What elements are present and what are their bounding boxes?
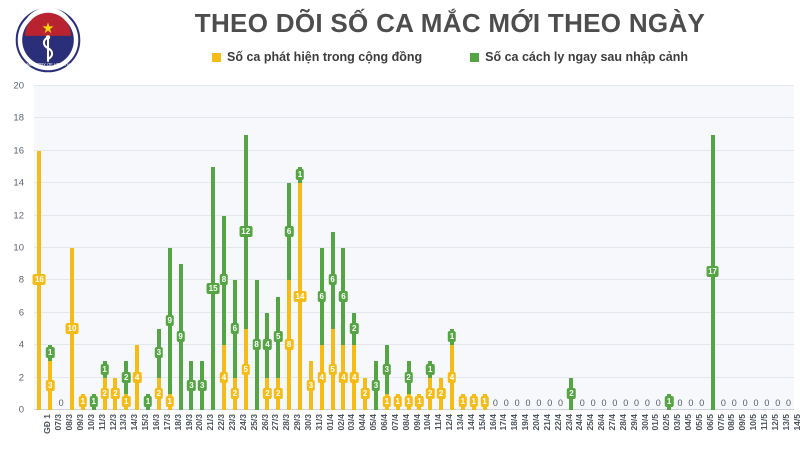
bar-column: 21 [425, 86, 436, 410]
x-axis-tick-label: 04/5 [683, 414, 693, 431]
x-axis-tick-label: 10/4 [422, 414, 432, 431]
bar-value-label-quarantine: 1 [100, 364, 108, 375]
bar-column: 512 [240, 86, 251, 410]
x-axis-tick-label: 14/3 [129, 414, 139, 431]
x-axis-tick-label: 23/4 [564, 414, 574, 431]
bar-column: 56 [327, 86, 338, 410]
bar-column: 3 [371, 86, 382, 410]
bar-column: 2 [436, 86, 447, 410]
x-axis-tick-label: 22/3 [216, 414, 226, 431]
bar-column: 0 [609, 86, 620, 410]
bar-value-label-quarantine: 9 [165, 315, 173, 326]
chart-page: MINISTRY OF HEALTH THEO DÕI SỐ CA MẮC MỚ… [0, 0, 800, 450]
bar-value-label-quarantine: 2 [567, 388, 575, 399]
bar-column: 2 [110, 86, 121, 410]
x-axis-tick-label: 25/4 [585, 414, 595, 431]
x-axis-tick-label: 12/3 [108, 414, 118, 431]
x-axis-tick-label: 02/4 [336, 414, 346, 431]
legend-swatch-community [212, 53, 221, 62]
bar-value-label-community: 1 [415, 396, 423, 407]
bar-column: 3 [305, 86, 316, 410]
bar-value-label-community: 4 [448, 372, 456, 383]
bar-column: 0 [718, 86, 729, 410]
bar-value-label-quarantine: 1 [144, 396, 152, 407]
x-axis: GĐ 107/308/309/310/311/312/313/314/315/3… [34, 414, 794, 450]
x-axis-tick-label: 09/3 [75, 414, 85, 431]
x-axis-tick-label: 01/4 [325, 414, 335, 431]
bar-column: 1 [392, 86, 403, 410]
bar-column: 12 [403, 86, 414, 410]
x-axis-tick-label: 07/4 [390, 414, 400, 431]
x-axis-tick-label: 05/5 [694, 414, 704, 431]
bar-value-label-quarantine: 3 [198, 380, 206, 391]
bar-value-label-zero: 0 [719, 398, 728, 409]
bar-value-label-quarantine: 4 [263, 339, 271, 350]
x-axis-tick-label: 29/4 [629, 414, 639, 431]
bar-column: 17 [707, 86, 718, 410]
bar-value-label-community: 5 [328, 364, 336, 375]
x-axis-tick-label: 17/3 [162, 414, 172, 431]
x-axis-tick-label: 06/5 [705, 414, 715, 431]
bar-value-label-community: 2 [263, 388, 271, 399]
svg-text:MINISTRY OF HEALTH: MINISTRY OF HEALTH [26, 62, 69, 67]
bar-column: 46 [316, 86, 327, 410]
x-axis-tick-label: 24/4 [574, 414, 584, 431]
bar-value-label-zero: 0 [730, 398, 739, 409]
bar-column: 0 [685, 86, 696, 410]
bar-column: 3 [197, 86, 208, 410]
bar-column: 1 [88, 86, 99, 410]
bar-value-label-community: 2 [155, 388, 163, 399]
bar-value-label-quarantine: 9 [176, 331, 184, 342]
bar-value-label-zero: 0 [773, 398, 782, 409]
bar-column: 0 [512, 86, 523, 410]
x-axis-tick-label: 21/4 [542, 414, 552, 431]
x-axis-tick-label: 15/3 [140, 414, 150, 431]
bar-value-label-quarantine: 2 [404, 372, 412, 383]
bar-value-label-zero: 0 [523, 398, 532, 409]
bar-value-label-quarantine: 3 [155, 347, 163, 358]
x-axis-tick-label: 12/4 [444, 414, 454, 431]
bar-value-label-community: 2 [100, 388, 108, 399]
x-axis-tick-label: 14/4 [466, 414, 476, 431]
bar-value-label-community: 4 [317, 372, 325, 383]
bar-value-label-zero: 0 [534, 398, 543, 409]
bar-column: 2 [566, 86, 577, 410]
bar-value-label-community: 2 [361, 388, 369, 399]
y-axis-tick-label: 14 [13, 178, 24, 189]
x-axis-tick-label: 22/4 [553, 414, 563, 431]
x-axis-tick-label: 06/4 [379, 414, 389, 431]
y-axis-tick-label: 4 [19, 340, 24, 351]
bar-value-label-community: 1 [480, 396, 488, 407]
bar-column: 0 [490, 86, 501, 410]
bar-column: 13 [381, 86, 392, 410]
bar-column: 41 [447, 86, 458, 410]
bar-column: 0 [555, 86, 566, 410]
bar-column: 16 [34, 86, 45, 410]
bar-value-label-community: 4 [220, 372, 228, 383]
bar-column: 15 [208, 86, 219, 410]
bar-column: 0 [653, 86, 664, 410]
x-axis-tick-label: 03/5 [672, 414, 682, 431]
bar-column: 0 [523, 86, 534, 410]
bar-column: 21 [99, 86, 110, 410]
bar-value-label-quarantine: 5 [274, 331, 282, 342]
x-axis-tick-label: 01/5 [650, 414, 660, 431]
bar-value-label-quarantine: 3 [187, 380, 195, 391]
y-axis-tick-label: 10 [13, 243, 24, 254]
bar-column: 0 [783, 86, 794, 410]
bar-value-label-zero: 0 [632, 398, 641, 409]
bar-column: 0 [642, 86, 653, 410]
bar-value-label-zero: 0 [762, 398, 771, 409]
bar-value-label-zero: 0 [578, 398, 587, 409]
x-axis-tick-label: 07/3 [53, 414, 63, 431]
bar-value-label-quarantine: 6 [285, 226, 293, 237]
x-axis-tick-label: 23/3 [227, 414, 237, 431]
y-axis-tick-label: 20 [13, 81, 24, 92]
bar-column: 86 [284, 86, 295, 410]
chart-area: 02468101214161820 1631010112121241231993… [0, 86, 800, 450]
bar-column: 0 [772, 86, 783, 410]
bar-value-label-community: 1 [469, 396, 477, 407]
bar-value-label-quarantine: 6 [339, 291, 347, 302]
bar-column: 46 [338, 86, 349, 410]
x-axis-tick-label: 25/3 [249, 414, 259, 431]
bar-column: 0 [631, 86, 642, 410]
x-axis-tick-label: 21/3 [205, 414, 215, 431]
bar-column: 0 [751, 86, 762, 410]
x-axis-tick-label: 26/4 [596, 414, 606, 431]
bar-column: 0 [729, 86, 740, 410]
y-axis-tick-label: 18 [13, 113, 24, 124]
bar-value-label-zero: 0 [621, 398, 630, 409]
y-axis-tick-label: 12 [13, 210, 24, 221]
bar-value-label-zero: 0 [686, 398, 695, 409]
bar-value-label-quarantine: 1 [426, 364, 434, 375]
x-axis-tick-label: 27/4 [607, 414, 617, 431]
bar-column: 0 [696, 86, 707, 410]
bar-column: 2 [360, 86, 371, 410]
bar-value-label-zero: 0 [654, 398, 663, 409]
x-axis-tick-label: 13/5 [781, 414, 791, 431]
x-axis-tick-label: 31/3 [314, 414, 324, 431]
bar-value-label-community: 2 [426, 388, 434, 399]
x-axis-tick-label: 20/4 [531, 414, 541, 431]
x-axis-tick-label: 15/4 [477, 414, 487, 431]
bar-column: 24 [262, 86, 273, 410]
y-axis: 02468101214161820 [0, 86, 30, 410]
x-axis-tick-label: 28/3 [281, 414, 291, 431]
y-axis-tick-label: 16 [13, 145, 24, 156]
bar-column: 8 [251, 86, 262, 410]
bar-value-label-community: 1 [393, 396, 401, 407]
y-axis-tick-label: 6 [19, 307, 24, 318]
x-axis-tick-label: 13/4 [455, 414, 465, 431]
bar-value-label-quarantine: 1 [46, 347, 54, 358]
bar-value-label-zero: 0 [57, 398, 66, 409]
x-axis-tick-label: 17/4 [498, 414, 508, 431]
bar-column: 1 [77, 86, 88, 410]
bar-column: 25 [273, 86, 284, 410]
bar-value-label-zero: 0 [741, 398, 750, 409]
bar-value-label-community: 1 [122, 396, 130, 407]
x-axis-tick-label: 08/4 [401, 414, 411, 431]
legend-item-community: Số ca phát hiện trong cộng đồng [212, 50, 422, 64]
legend-item-quarantine: Số ca cách ly ngay sau nhập cảnh [470, 50, 688, 64]
bar-column: 0 [56, 86, 67, 410]
bar-column: 9 [175, 86, 186, 410]
bar-value-label-community: 1 [79, 396, 87, 407]
bar-column: 0 [740, 86, 751, 410]
bar-value-label-community: 4 [350, 372, 358, 383]
bar-column: 12 [121, 86, 132, 410]
bar-value-label-quarantine: 6 [231, 323, 239, 334]
x-axis-tick-label: 14/5 [792, 414, 800, 431]
bar-value-label-community: 1 [165, 396, 173, 407]
x-axis-tick-label: 27/3 [270, 414, 280, 431]
bar-value-label-community: 3 [307, 380, 315, 391]
bar-column: 1 [664, 86, 675, 410]
bar-value-label-quarantine: 6 [328, 274, 336, 285]
bar-column: 0 [675, 86, 686, 410]
bar-value-label-quarantine: 2 [122, 372, 130, 383]
bar-value-label-zero: 0 [610, 398, 619, 409]
x-axis-tick-label: 12/5 [770, 414, 780, 431]
bar-value-label-zero: 0 [491, 398, 500, 409]
x-axis-tick-label: 19/4 [520, 414, 530, 431]
bar-value-label-community: 8 [285, 339, 293, 350]
x-axis-tick-label: 18/4 [509, 414, 519, 431]
bar-value-label-zero: 0 [784, 398, 793, 409]
bar-column: 10 [67, 86, 78, 410]
chart-legend: Số ca phát hiện trong cộng đồng Số ca cá… [110, 50, 790, 64]
bar-column: 0 [501, 86, 512, 410]
bar-value-label-zero: 0 [502, 398, 511, 409]
page-title: THEO DÕI SỐ CA MẮC MỚI THEO NGÀY [110, 6, 790, 40]
bo-y-te-logo: MINISTRY OF HEALTH [14, 6, 82, 74]
bar-value-label-community: 1 [459, 396, 467, 407]
bar-value-label-community: 1 [404, 396, 412, 407]
x-axis-tick-label: 20/3 [194, 414, 204, 431]
x-axis-tick-label: 30/3 [303, 414, 313, 431]
bar-column: 26 [229, 86, 240, 410]
bar-value-label-quarantine: 1 [89, 396, 97, 407]
bar-value-label-community: 2 [231, 388, 239, 399]
bar-column: 1 [457, 86, 468, 410]
y-axis-tick-label: 8 [19, 275, 24, 286]
bar-value-label-zero: 0 [545, 398, 554, 409]
x-axis-tick-label: 29/3 [292, 414, 302, 431]
x-axis-tick-label: 11/4 [433, 414, 443, 430]
x-axis-tick-label: GĐ 1 [42, 414, 52, 434]
bar-value-label-community: 4 [339, 372, 347, 383]
x-axis-tick-label: 08/5 [726, 414, 736, 431]
bar-value-label-zero: 0 [556, 398, 565, 409]
bar-value-label-community: 5 [241, 364, 249, 375]
bar-column: 1 [479, 86, 490, 410]
bar-value-label-quarantine: 1 [296, 169, 304, 180]
bar-value-label-zero: 0 [675, 398, 684, 409]
bar-value-label-zero: 0 [589, 398, 598, 409]
bar-value-label-quarantine: 1 [448, 331, 456, 342]
bar-value-label-zero: 0 [513, 398, 522, 409]
bar-column: 23 [153, 86, 164, 410]
x-axis-tick-label: 28/4 [618, 414, 628, 431]
bar-column: 141 [295, 86, 306, 410]
bar-value-label-community: 2 [437, 388, 445, 399]
x-axis-tick-label: 10/5 [748, 414, 758, 431]
bar-value-label-quarantine: 3 [372, 380, 380, 391]
x-axis-tick-label: 19/3 [184, 414, 194, 431]
y-axis-tick-label: 0 [19, 405, 24, 416]
x-axis-tick-label: 13/3 [118, 414, 128, 431]
x-axis-tick-label: 16/4 [488, 414, 498, 431]
bar-column: 4 [132, 86, 143, 410]
bar-column: 0 [533, 86, 544, 410]
bar-value-label-quarantine: 2 [350, 323, 358, 334]
x-axis-tick-label: 09/4 [412, 414, 422, 431]
x-axis-tick-label: 30/4 [640, 414, 650, 431]
bar-value-label-zero: 0 [697, 398, 706, 409]
bar-column: 0 [761, 86, 772, 410]
bar-value-label-community: 1 [383, 396, 391, 407]
bar-column: 42 [349, 86, 360, 410]
x-axis-tick-label: 24/3 [238, 414, 248, 431]
bar-value-label-quarantine: 8 [220, 274, 228, 285]
x-axis-tick-label: 26/3 [260, 414, 270, 431]
x-axis-tick-label: 10/3 [86, 414, 96, 431]
bar-value-label-zero: 0 [643, 398, 652, 409]
legend-label-quarantine: Số ca cách ly ngay sau nhập cảnh [485, 50, 688, 64]
bar-column: 48 [219, 86, 230, 410]
bar-value-label-zero: 0 [751, 398, 760, 409]
y-axis-tick-label: 2 [19, 372, 24, 383]
bar-series-container: 1631010112121241231993315482651282425861… [34, 86, 794, 410]
legend-swatch-quarantine [470, 53, 479, 62]
bar-column: 3 [186, 86, 197, 410]
x-axis-tick-label: 05/4 [368, 414, 378, 431]
bar-column: 1 [468, 86, 479, 410]
bar-value-label-community: 3 [46, 380, 54, 391]
x-axis-tick-label: 11/3 [97, 414, 107, 430]
x-axis-tick-label: 03/4 [346, 414, 356, 431]
bar-value-label-quarantine: 8 [252, 339, 260, 350]
legend-label-community: Số ca phát hiện trong cộng đồng [227, 50, 422, 64]
bar-column: 31 [45, 86, 56, 410]
bar-column: 0 [577, 86, 588, 410]
bar-value-label-quarantine: 1 [665, 396, 673, 407]
bar-value-label-community: 2 [111, 388, 119, 399]
bar-value-label-zero: 0 [599, 398, 608, 409]
bar-column: 0 [588, 86, 599, 410]
x-axis-tick-label: 18/3 [173, 414, 183, 431]
bar-column: 1 [414, 86, 425, 410]
bar-value-label-community: 2 [274, 388, 282, 399]
x-axis-tick-label: 07/5 [716, 414, 726, 431]
x-axis-tick-label: 02/5 [661, 414, 671, 431]
x-axis-tick-label: 16/3 [151, 414, 161, 431]
bar-value-label-quarantine: 6 [317, 291, 325, 302]
x-axis-tick-label: 04/4 [357, 414, 367, 431]
bar-column: 0 [620, 86, 631, 410]
bar-column: 0 [544, 86, 555, 410]
bar-column: 19 [164, 86, 175, 410]
x-axis-tick-label: 11/5 [759, 414, 769, 430]
bar-value-label-quarantine: 3 [383, 364, 391, 375]
x-axis-tick-label: 08/3 [64, 414, 74, 431]
bar-column: 1 [143, 86, 154, 410]
bar-column: 0 [599, 86, 610, 410]
bar-value-label-community: 4 [133, 372, 141, 383]
x-axis-tick-label: 09/5 [737, 414, 747, 431]
